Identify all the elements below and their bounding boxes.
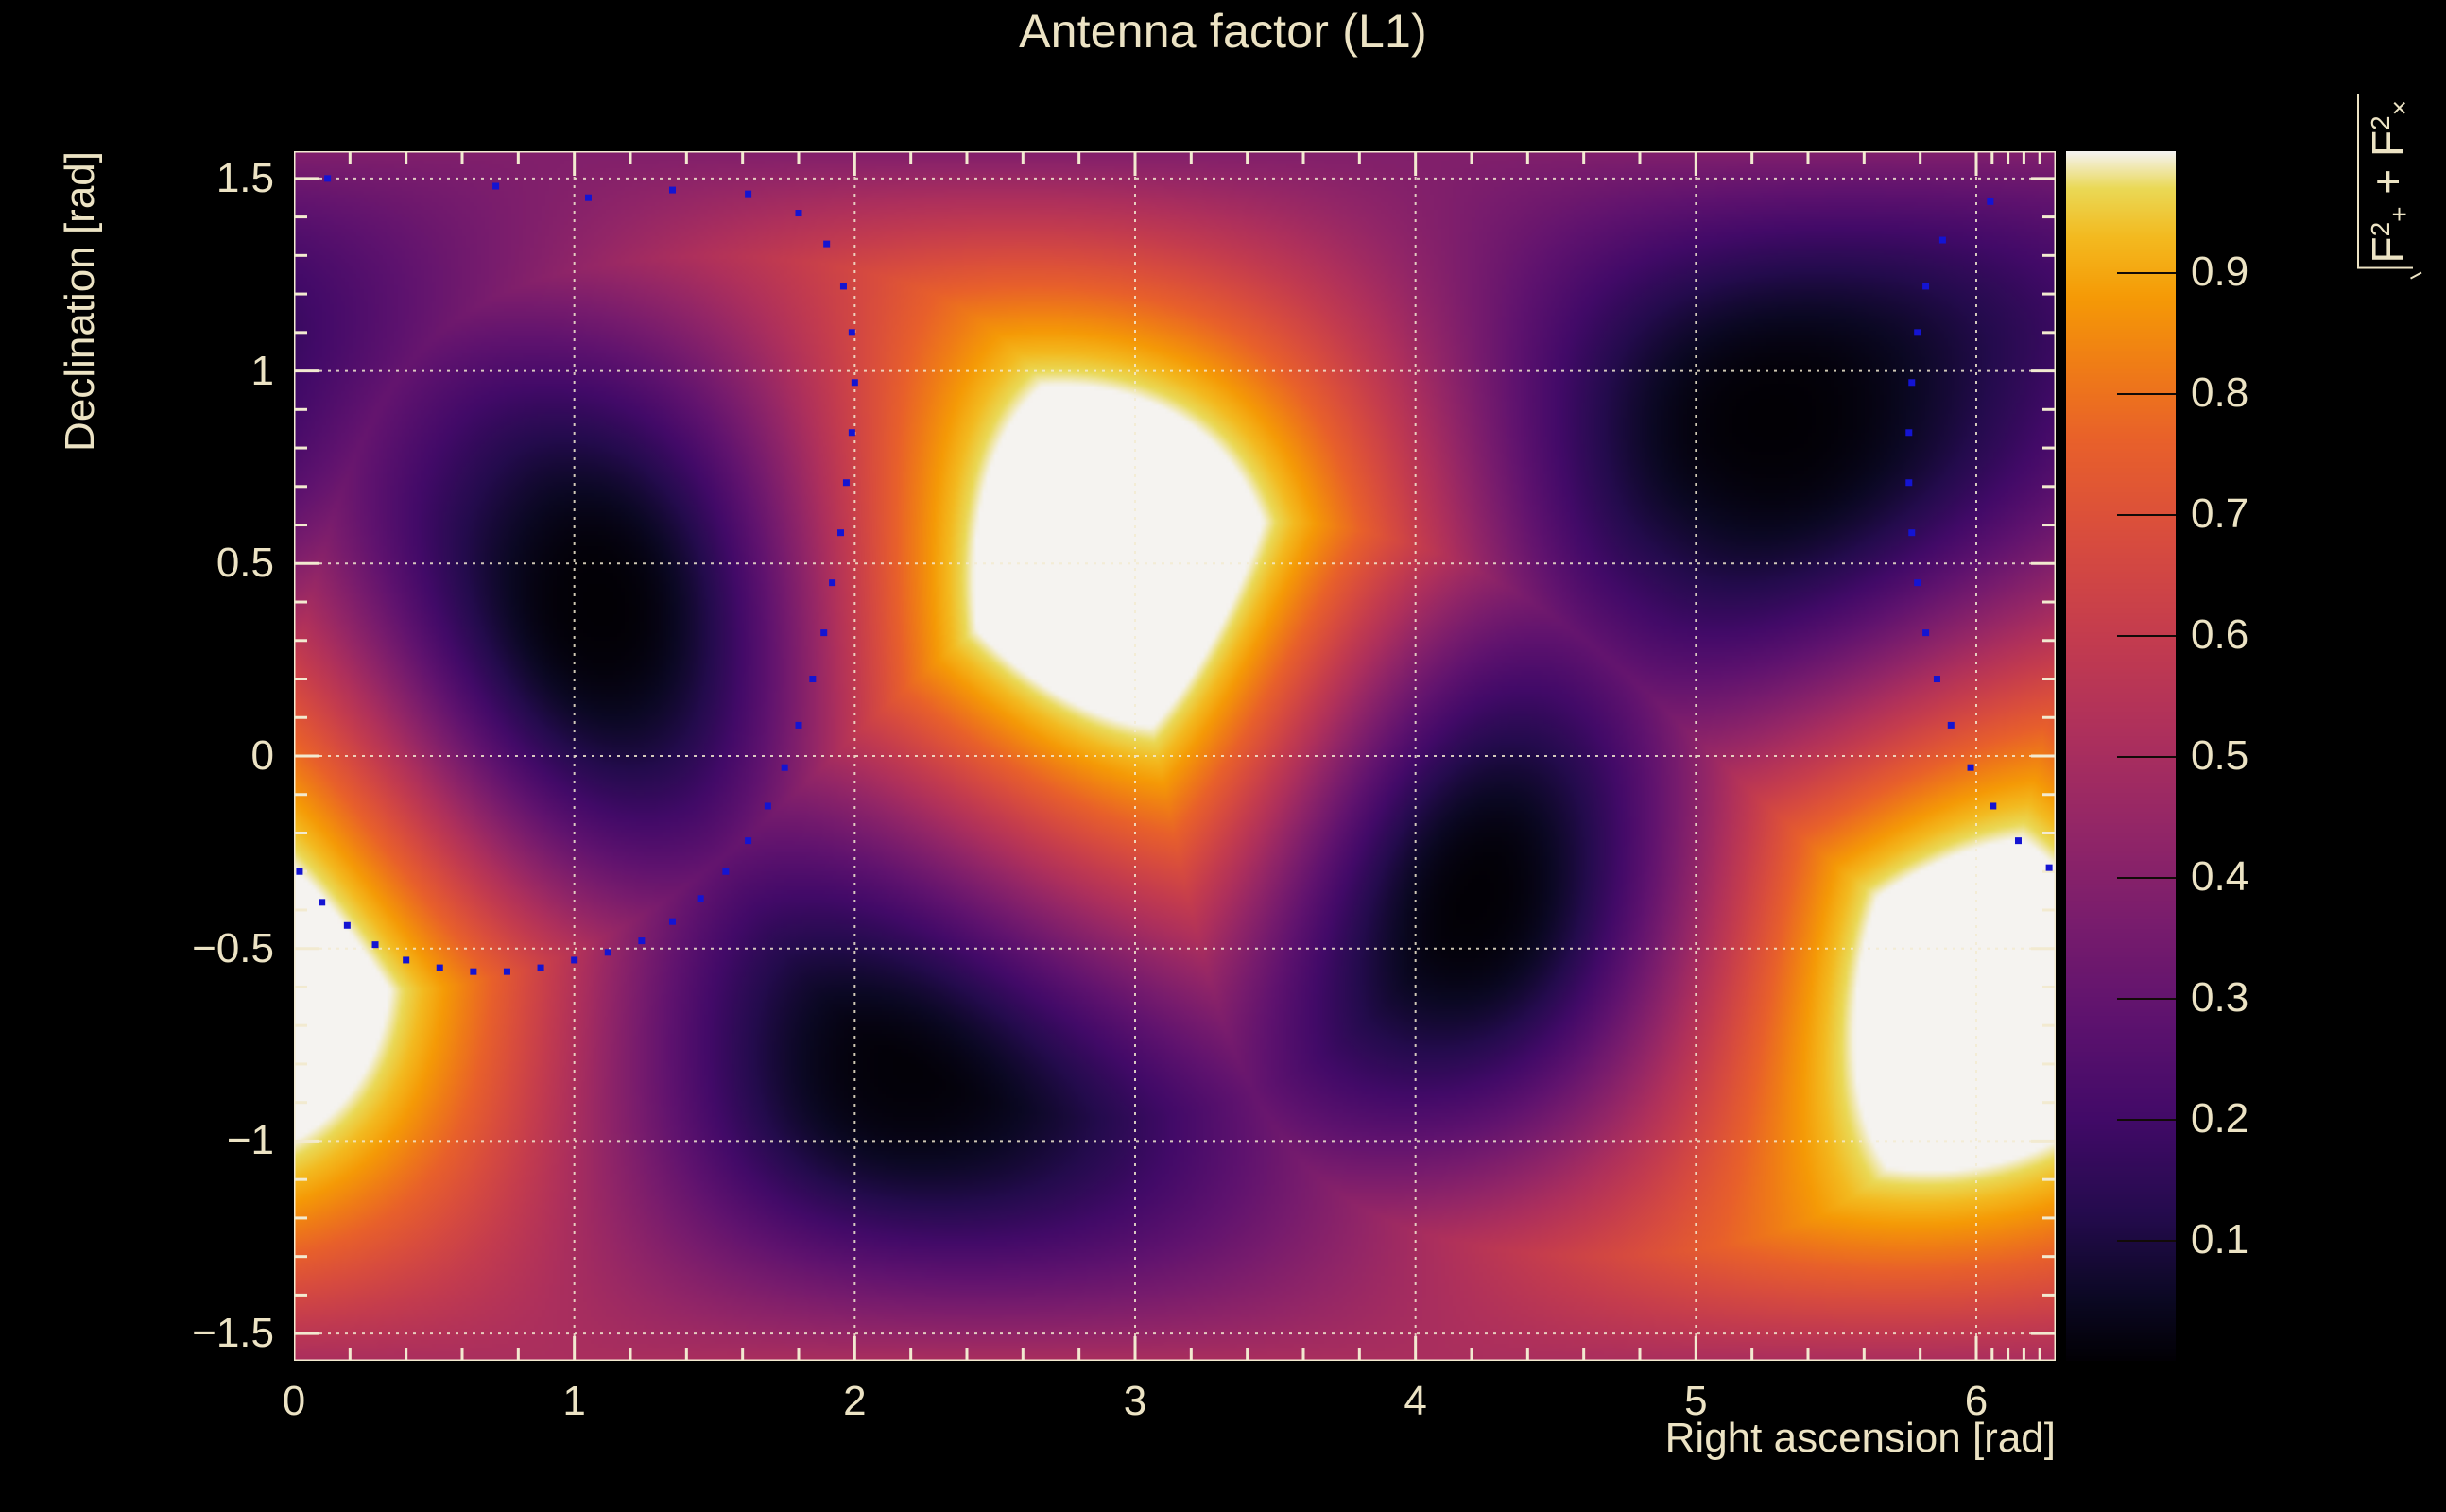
- x-tick-label: 4: [1404, 1378, 1426, 1425]
- colorbar-tick-label: 0.6: [2191, 611, 2248, 659]
- root-canvas: Antenna factor (L1) 0123456 −1.5−1−0.500…: [0, 0, 2446, 1512]
- y-tick-label: 0: [132, 732, 274, 780]
- x-tick-label: 1: [562, 1378, 585, 1425]
- colorbar-tick-label: 0.2: [2191, 1095, 2248, 1143]
- y-tick-label: −0.5: [132, 925, 274, 972]
- colorbar-tick: [2117, 998, 2176, 1000]
- colorbar-tick-label: 0.3: [2191, 974, 2248, 1022]
- radical-icon: F2+ + F2×: [2357, 94, 2415, 288]
- colorbar-tick: [2117, 877, 2176, 879]
- colorbar-tick-label: 0.5: [2191, 732, 2248, 780]
- y-tick-label: −1.5: [132, 1310, 274, 1357]
- colorbar-tick: [2117, 1240, 2176, 1242]
- z-operator: +: [2363, 169, 2412, 195]
- colorbar-tick-label: 0.8: [2191, 369, 2248, 417]
- colorbar-tick-label: 0.9: [2191, 249, 2248, 296]
- page-title: Antenna factor (L1): [0, 4, 2446, 59]
- colorbar-tick: [2117, 514, 2176, 516]
- heatmap-image: [294, 151, 2056, 1361]
- x-tick-label: 3: [1124, 1378, 1146, 1425]
- colorbar[interactable]: [2066, 151, 2176, 1361]
- colorbar-tick: [2117, 756, 2176, 758]
- colorbar-tick: [2117, 393, 2176, 395]
- z-term-cross: F2×: [2363, 100, 2412, 157]
- y-tick-label: 1: [132, 348, 274, 395]
- y-tick-label: 0.5: [132, 540, 274, 587]
- y-tick-label: 1.5: [132, 155, 274, 202]
- y-axis-title: Declination [rad]: [57, 151, 104, 452]
- colorbar-tick: [2117, 635, 2176, 637]
- x-axis-title: Right ascension [rad]: [1665, 1415, 2056, 1462]
- plot-frame[interactable]: [294, 151, 2056, 1361]
- z-term-plus: F2+: [2363, 206, 2412, 263]
- z-axis-title: F2+ + F2×: [2357, 94, 2415, 288]
- colorbar-tick-label: 0.7: [2191, 490, 2248, 538]
- colorbar-tick: [2117, 272, 2176, 274]
- colorbar-tick: [2117, 1119, 2176, 1121]
- colorbar-tick-label: 0.1: [2191, 1216, 2248, 1263]
- x-tick-label: 2: [843, 1378, 866, 1425]
- colorbar-tick-label: 0.4: [2191, 853, 2248, 901]
- x-tick-label: 0: [283, 1378, 305, 1425]
- y-tick-label: −1: [132, 1117, 274, 1164]
